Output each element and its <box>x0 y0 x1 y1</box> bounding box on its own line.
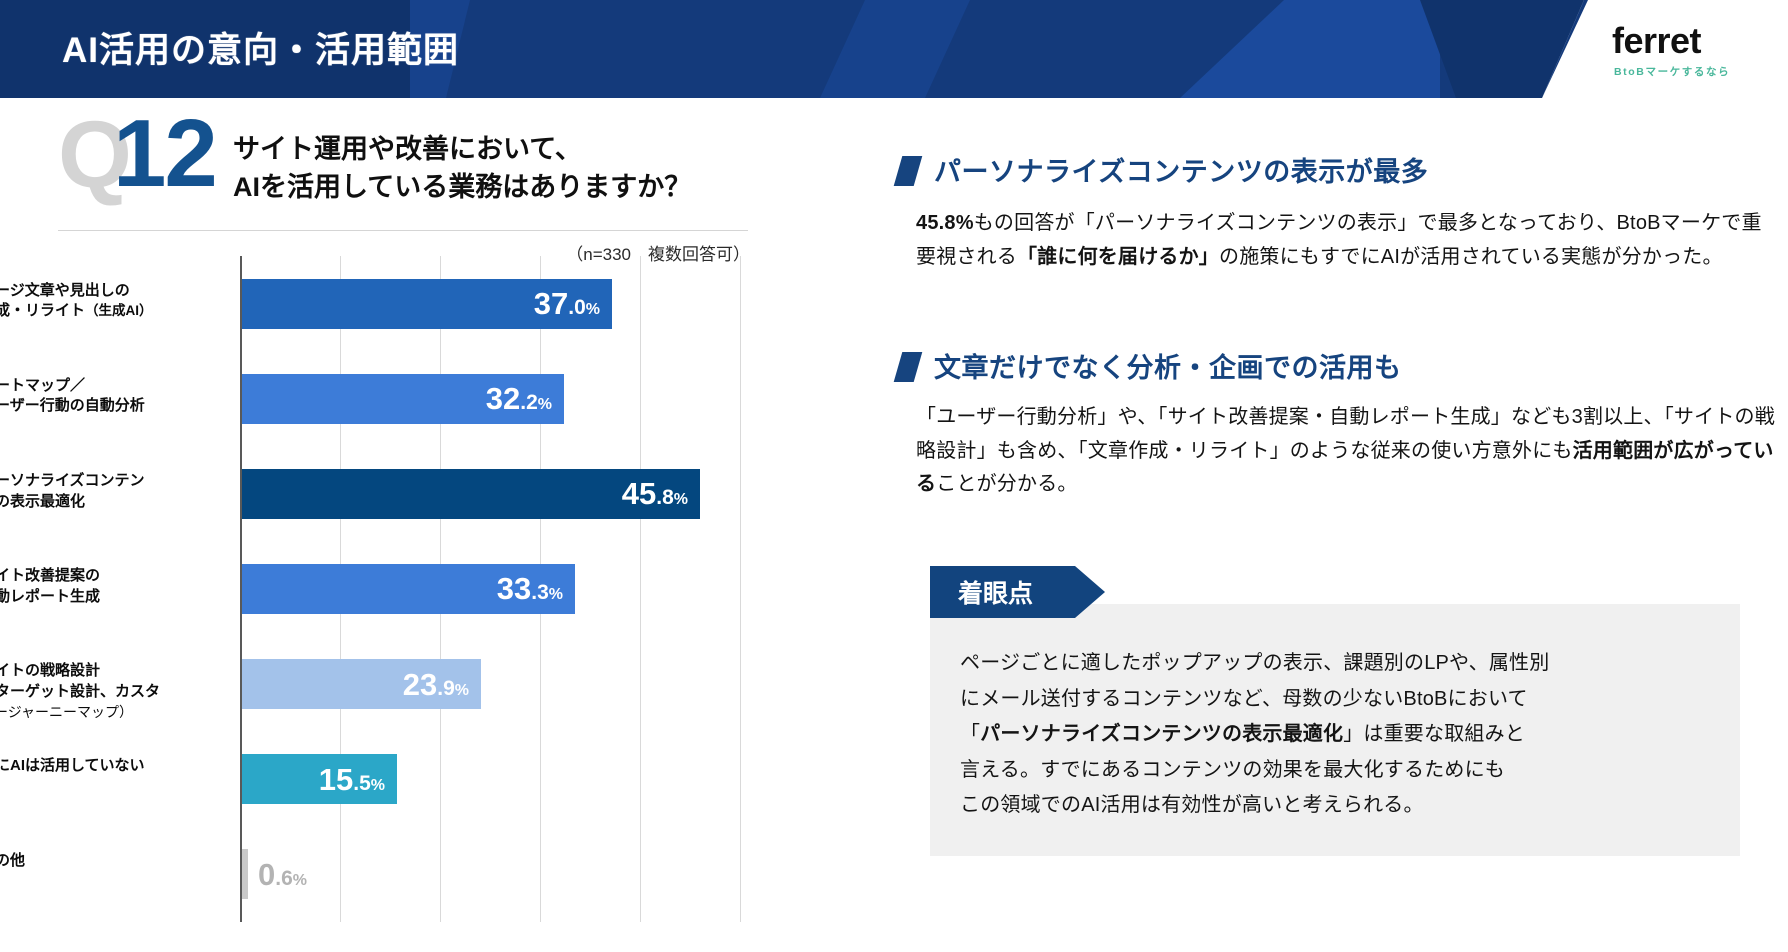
chart-category-label: サイトの戦略設計（ターゲット設計、カスタマージャーニーマップ） <box>0 661 230 722</box>
insight-box-line-3: 「パーソナライズコンテンツの表示最適化」は重要な取組みと <box>960 717 1710 753</box>
chart-bar[interactable]: 37.0% <box>242 279 612 329</box>
insight-1-bold-phrase: 「誰に何を届けるか」 <box>1017 246 1219 268</box>
insight-tab-label: 着眼点 <box>930 566 1105 618</box>
chart-row: サイトの戦略設計（ターゲット設計、カスタマージャーニーマップ）23.9% <box>240 637 740 732</box>
chart-category-label: パーソナライズコンテンツの表示最適化 <box>0 471 230 512</box>
chart-bar[interactable]: 32.2% <box>242 374 564 424</box>
chart-bar-value: 45.8% <box>622 478 700 509</box>
slash-icon <box>894 352 923 382</box>
insight-section-2: 文章だけでなく分析・企画での活用も 「ユーザー行動分析」や、「サイト改善提案・自… <box>898 346 1778 502</box>
slide-header: AI活用の意向・活用範囲 ferret BtoBマーケするなら <box>0 0 1788 98</box>
insight-heading-2-row: 文章だけでなく分析・企画での活用も <box>898 346 1778 385</box>
insight-1-bold-stat: 45.8% <box>916 212 974 234</box>
logo-tagline: BtoBマーケするなら <box>1614 64 1730 79</box>
chart-gridline <box>740 256 741 922</box>
chart-bar-value: 37.0% <box>534 288 612 319</box>
insight-box-line-3-end: 」は重要な取組みと <box>1343 723 1525 745</box>
slash-icon <box>894 156 923 186</box>
insight-box-line-1: ページごとに適したポップアップの表示、課題別のLPや、属性別 <box>960 646 1710 682</box>
chart-bar-value: 15.5% <box>319 764 397 795</box>
chart-bar[interactable]: 23.9% <box>242 659 481 709</box>
insight-callout-body: ページごとに適したポップアップの表示、課題別のLPや、属性別 にメール送付するコ… <box>930 604 1740 856</box>
chart-category-label: ヒートマップ／ユーザー行動の自動分析 <box>0 376 230 417</box>
chart-bar-value: 0.6% <box>248 859 307 890</box>
chart-bar[interactable]: 33.3% <box>242 564 575 614</box>
chart-bar[interactable]: 15.5% <box>242 754 397 804</box>
chart-row: パーソナライズコンテンツの表示最適化45.8% <box>240 446 740 541</box>
question-divider <box>58 230 748 231</box>
chart-plot-area: ページ文章や見出しの作成・リライト（生成AI）37.0%ヒートマップ／ユーザー行… <box>240 256 740 922</box>
right-column: パーソナライズコンテンツの表示が最多 45.8%もの回答が「パーソナライズコンテ… <box>888 98 1788 952</box>
chart-row: 特にAIは活用していない15.5% <box>240 732 740 827</box>
chart-bar-value: 23.9% <box>403 669 481 700</box>
insight-1-end: の施策にもすでにAIが活用されている実態が分かった。 <box>1219 246 1723 268</box>
slide-root: AI活用の意向・活用範囲 ferret BtoBマーケするなら Q 12 サイト… <box>0 0 1788 952</box>
chart-bar-value: 32.2% <box>486 383 564 414</box>
header-facet-4 <box>1180 0 1440 98</box>
chart-row: その他0.6% <box>240 827 740 922</box>
bar-chart: ページ文章や見出しの作成・リライト（生成AI）37.0%ヒートマップ／ユーザー行… <box>48 256 748 922</box>
insight-section-1: パーソナライズコンテンツの表示が最多 45.8%もの回答が「パーソナライズコンテ… <box>898 150 1778 274</box>
question-number: 12 <box>113 106 216 202</box>
question-line-2: AIを活用している業務はありますか？ <box>233 168 691 206</box>
question-text: サイト運用や改善において、 AIを活用している業務はありますか？ <box>233 130 691 207</box>
page-title: AI活用の意向・活用範囲 <box>62 22 459 73</box>
brand-logo: ferret BtoBマーケするなら <box>1542 0 1788 98</box>
chart-category-label: サイト改善提案の自動レポート生成 <box>0 566 230 607</box>
chart-category-label: 特にAIは活用していない <box>0 756 230 777</box>
chart-row: サイト改善提案の自動レポート生成33.3% <box>240 541 740 636</box>
insight-box-quote-open: 「 <box>960 723 980 745</box>
chart-category-label: その他 <box>0 851 230 872</box>
insight-heading-1-row: パーソナライズコンテンツの表示が最多 <box>898 150 1778 189</box>
chart-bar-value: 33.3% <box>497 573 575 604</box>
insight-body-2: 「ユーザー行動分析」や、「サイト改善提案・自動レポート生成」なども3割以上、「サ… <box>916 401 1786 502</box>
chart-row: ページ文章や見出しの作成・リライト（生成AI）37.0% <box>240 256 740 351</box>
insight-box-line-2: にメール送付するコンテンツなど、母数の少ないBtoBにおいて <box>960 682 1710 718</box>
question-line-1: サイト運用や改善において、 <box>233 130 691 168</box>
insight-box-line-4: 言える。すでにあるコンテンツの効果を最大化するためにも <box>960 753 1710 789</box>
header-facet-3 <box>820 0 970 98</box>
insight-callout: 着眼点 ページごとに適したポップアップの表示、課題別のLPや、属性別 にメール送… <box>930 566 1740 856</box>
insight-heading-2: 文章だけでなく分析・企画での活用も <box>934 346 1778 385</box>
insight-heading-1: パーソナライズコンテンツの表示が最多 <box>934 150 1778 189</box>
insight-box-line-5: この領域でのAI活用は有効性が高いと考えられる。 <box>960 788 1710 824</box>
insight-box-bold: パーソナライズコンテンツの表示最適化 <box>980 723 1343 745</box>
insight-body-1: 45.8%もの回答が「パーソナライズコンテンツの表示」で最多となっており、Bto… <box>916 207 1776 274</box>
chart-category-label: ページ文章や見出しの作成・リライト（生成AI） <box>0 281 230 322</box>
logo-wordmark: ferret <box>1612 20 1701 62</box>
chart-bar[interactable]: 45.8% <box>242 469 700 519</box>
chart-bar[interactable]: 0.6% <box>242 849 248 899</box>
left-column: Q 12 サイト運用や改善において、 AIを活用している業務はありますか？ （n… <box>0 98 880 952</box>
question-block: Q 12 サイト運用や改善において、 AIを活用している業務はありますか？ <box>58 116 858 226</box>
chart-row: ヒートマップ／ユーザー行動の自動分析32.2% <box>240 351 740 446</box>
insight-2-end: ことが分かる。 <box>936 473 1077 495</box>
